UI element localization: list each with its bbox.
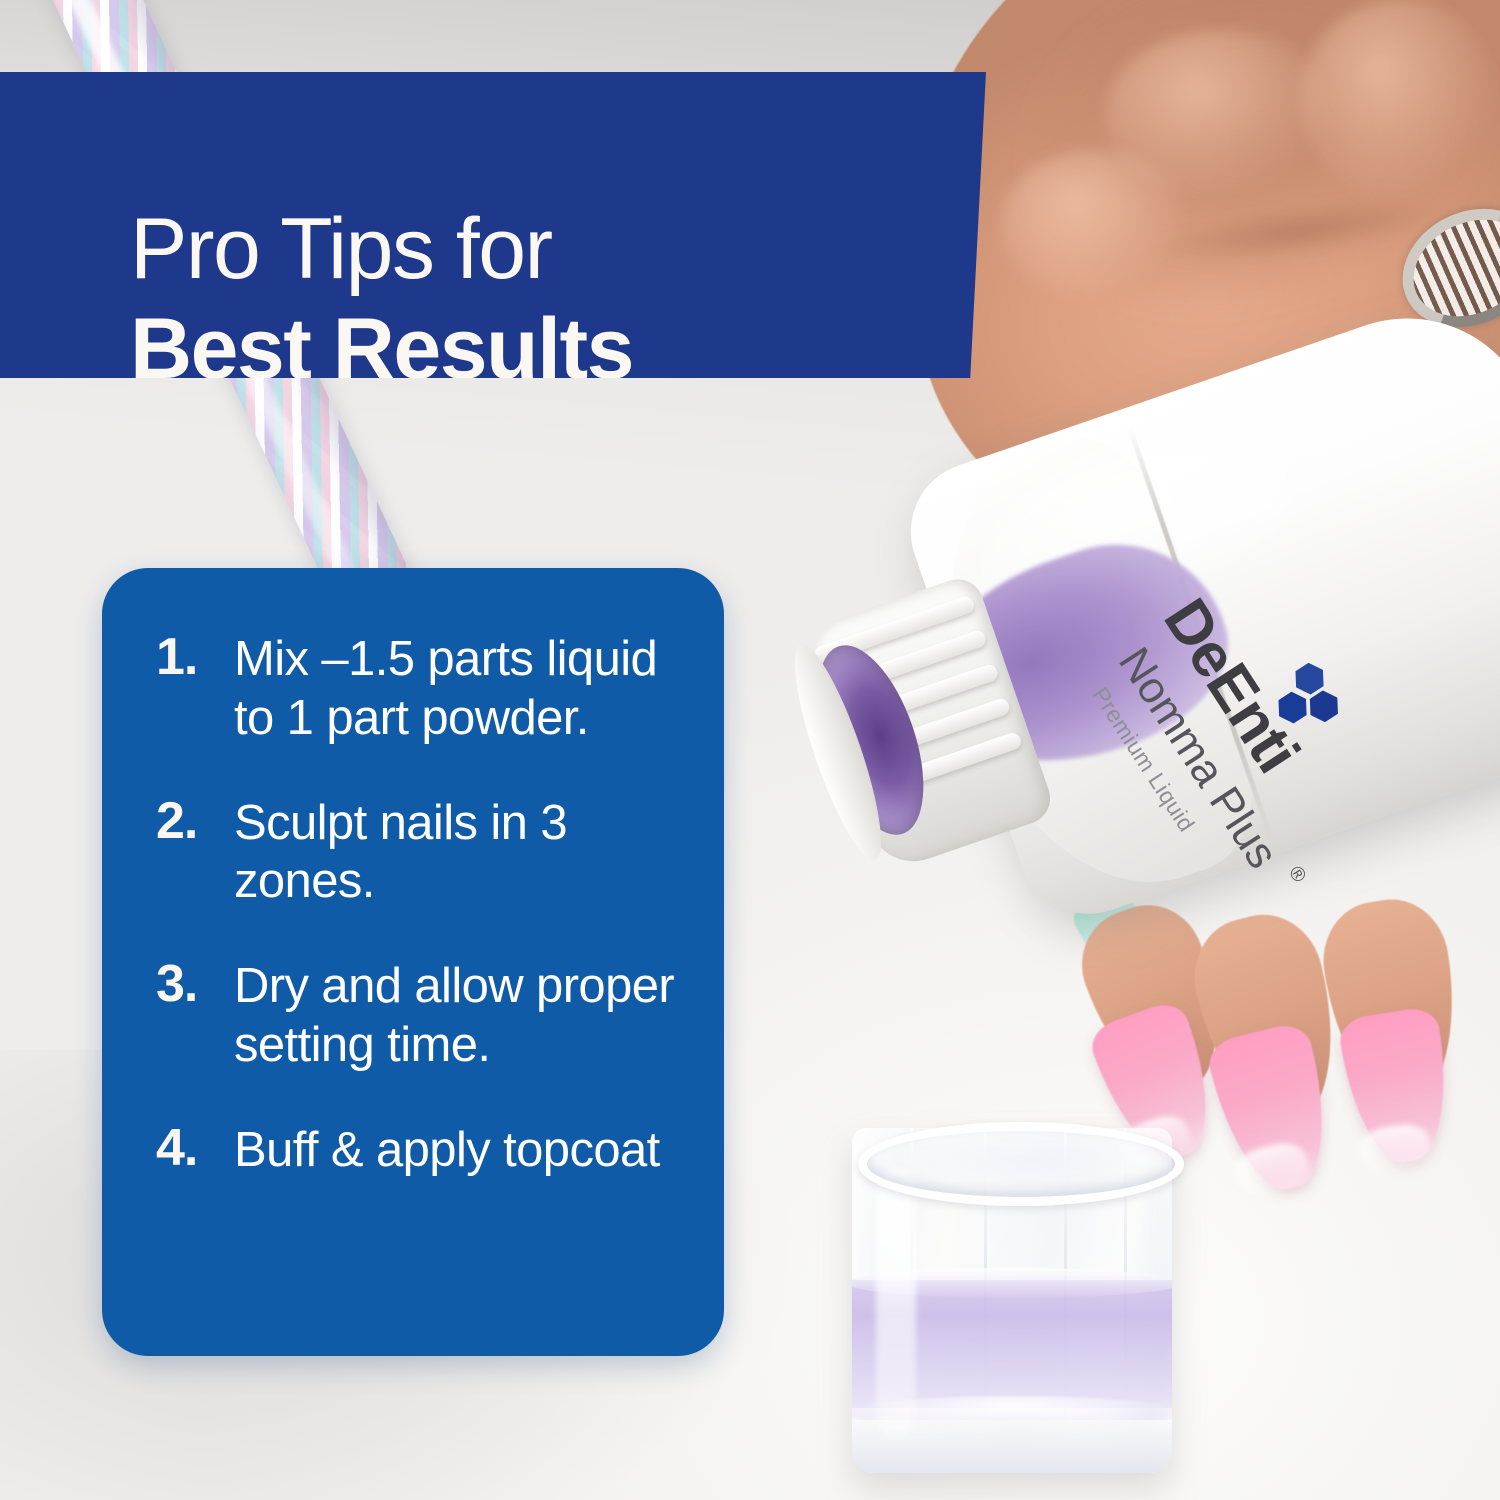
knuckle-highlight (1000, 150, 1190, 300)
title-line-1: Pro Tips for (130, 200, 950, 300)
registered-mark: ® (1283, 862, 1310, 887)
tip-item: 4. Buff & apply topcoat (156, 1121, 696, 1180)
tip-item: 3. Dry and allow proper setting time. (156, 957, 696, 1075)
tip-number: 3. (156, 957, 234, 1012)
tip-text: Mix –1.5 parts liquid to 1 part powder. (234, 630, 696, 748)
page-title: Pro Tips for Best Results (130, 200, 950, 400)
dish-rim (858, 1122, 1184, 1206)
tips-panel: 1. Mix –1.5 parts liquid to 1 part powde… (102, 568, 724, 1356)
tips-list: 1. Mix –1.5 parts liquid to 1 part powde… (156, 630, 696, 1180)
tip-text: Sculpt nails in 3 zones. (234, 794, 696, 912)
tip-number: 4. (156, 1121, 234, 1176)
tip-number: 1. (156, 630, 234, 685)
knuckle-highlight (1300, 0, 1500, 200)
tip-item: 2. Sculpt nails in 3 zones. (156, 794, 696, 912)
dish-highlight (876, 1168, 916, 1438)
tip-text: Buff & apply topcoat (234, 1121, 696, 1180)
header-band: Pro Tips for Best Results (0, 72, 986, 378)
tip-text: Dry and allow proper setting time. (234, 957, 696, 1075)
tip-item: 1. Mix –1.5 parts liquid to 1 part powde… (156, 630, 696, 748)
tip-number: 2. (156, 794, 234, 849)
infographic-canvas: DeEnti Nomma Plus ® Premium Liquid Pro T… (0, 0, 1500, 1500)
